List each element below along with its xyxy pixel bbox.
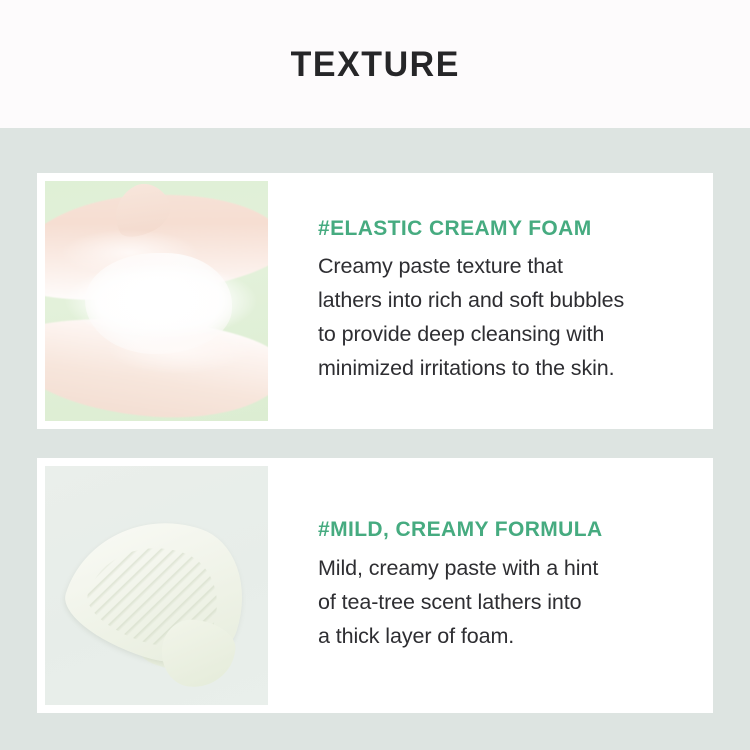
description-line: minimized irritations to the skin. xyxy=(318,351,699,385)
upper-hand-shape xyxy=(45,184,268,309)
foam-shape xyxy=(85,253,232,354)
card-description: Mild, creamy paste with a hint of tea-tr… xyxy=(318,551,699,653)
page-header: TEXTURE xyxy=(0,0,750,128)
hands-foam-illustration xyxy=(45,181,268,421)
card-description: Creamy paste texture that lathers into r… xyxy=(318,249,699,385)
page-title: TEXTURE xyxy=(290,47,459,82)
description-line: lathers into rich and soft bubbles xyxy=(318,283,699,317)
lower-hand-shape xyxy=(45,311,268,421)
description-line: a thick layer of foam. xyxy=(318,619,699,653)
description-line: Creamy paste texture that xyxy=(318,249,699,283)
description-line: Mild, creamy paste with a hint xyxy=(318,551,699,585)
cream-swatch-illustration xyxy=(45,466,268,705)
card-image-hands-foam xyxy=(45,181,268,421)
card-body: #ELASTIC CREAMY FOAM Creamy paste textur… xyxy=(268,181,713,421)
description-line: to provide deep cleansing with xyxy=(318,317,699,351)
thumb-shape xyxy=(104,181,178,245)
card-image-cream-swatch xyxy=(45,466,268,705)
card-heading: #MILD, CREAMY FORMULA xyxy=(318,518,699,542)
texture-page: TEXTURE #ELASTIC CREAMY FOAM Creamy past… xyxy=(0,0,750,750)
card-body: #MILD, CREAMY FORMULA Mild, creamy paste… xyxy=(268,466,713,705)
swatch-blob-shape xyxy=(55,495,263,681)
texture-card-mild-creamy-formula: #MILD, CREAMY FORMULA Mild, creamy paste… xyxy=(37,458,713,713)
texture-card-elastic-creamy-foam: #ELASTIC CREAMY FOAM Creamy paste textur… xyxy=(37,173,713,429)
card-heading: #ELASTIC CREAMY FOAM xyxy=(318,217,699,241)
description-line: of tea-tree scent lathers into xyxy=(318,585,699,619)
